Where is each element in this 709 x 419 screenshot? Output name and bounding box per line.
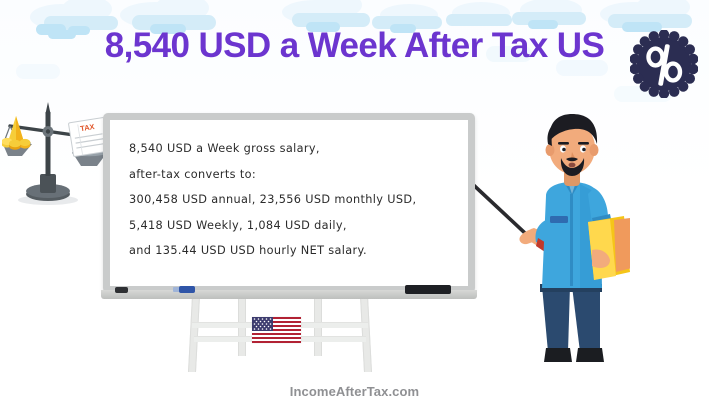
teacher-character (460, 100, 630, 372)
cloud-icon (636, 0, 690, 20)
eraser-icon (405, 285, 451, 294)
cloud-icon (520, 0, 582, 22)
balance-scale-icon: TAX (2, 100, 110, 208)
whiteboard-line-3: 300,458 USD annual, 23,556 USD monthly U… (129, 187, 449, 213)
percent-badge (630, 30, 698, 98)
teacher-character-icon (460, 100, 630, 372)
cloud-icon (512, 12, 586, 25)
folder-icon (588, 216, 630, 280)
whiteboard-surface: 8,540 USD a Week gross salary, after-tax… (117, 127, 461, 279)
whiteboard: 8,540 USD a Week gross salary, after-tax… (103, 113, 475, 305)
balance-scale-illustration: TAX (2, 100, 110, 208)
whiteboard-line-4: 5,418 USD Weekly, 1,084 USD daily, (129, 213, 449, 239)
cloud-icon (446, 14, 512, 26)
cloud-icon (600, 2, 666, 26)
pointer-stick-icon (466, 178, 526, 234)
cloud-icon (282, 0, 348, 24)
us-flag-icon (252, 317, 301, 343)
stand-leg-right (360, 296, 372, 372)
cloud-icon (380, 4, 438, 26)
cloud-icon (312, 0, 362, 18)
cloud-icon (452, 2, 510, 24)
eraser-icon (115, 287, 128, 293)
cloud-icon (155, 0, 209, 22)
percent-badge-icon (630, 30, 698, 98)
site-watermark: IncomeAfterTax.com (0, 384, 709, 399)
gold-coins-icon (2, 116, 31, 150)
whiteboard-line-2: after-tax converts to: (129, 162, 449, 188)
cloud-icon (120, 2, 190, 28)
page-title: 8,540 USD a Week After Tax US (0, 26, 709, 66)
blue-marker-icon (179, 286, 195, 293)
infographic-canvas: 8,540 USD a Week After Tax US (0, 0, 709, 419)
us-flag (252, 317, 301, 343)
cloud-icon (292, 13, 370, 27)
stand-leg-left (188, 296, 200, 372)
whiteboard-line-5: and 135.44 USD USD hourly NET salary. (129, 238, 449, 264)
whiteboard-line-1: 8,540 USD a Week gross salary, (129, 136, 449, 162)
cloud-icon (62, 0, 112, 22)
cloud-icon (16, 64, 60, 79)
whiteboard-frame: 8,540 USD a Week gross salary, after-tax… (103, 113, 475, 293)
